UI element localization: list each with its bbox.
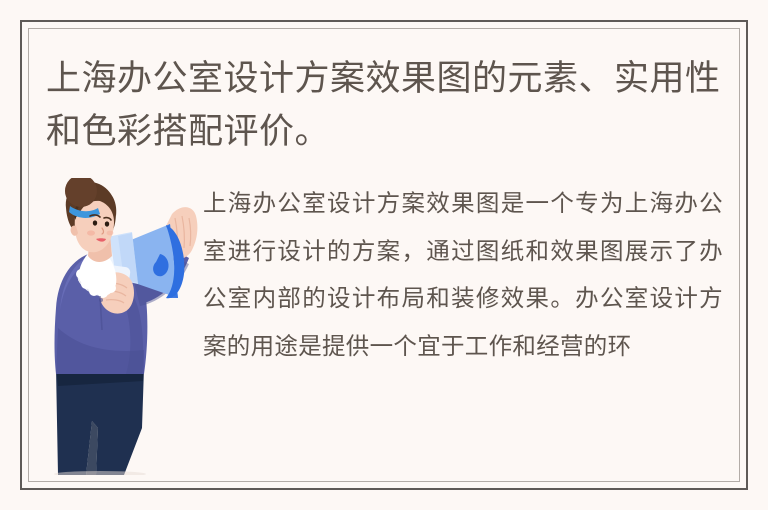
woman-with-megaphone-illustration	[48, 178, 198, 475]
head	[65, 178, 116, 252]
article-body: 上海办公室设计方案效果图是一个专为上海办公室进行设计的方案，通过图纸和效果图展示…	[203, 180, 723, 370]
woman-with-megaphone-graphic	[48, 178, 198, 475]
pants-group	[56, 368, 144, 475]
page-title: 上海办公室设计方案效果图的元素、实用性和色彩搭配评价。	[46, 52, 736, 158]
article-card: 上海办公室设计方案效果图的元素、实用性和色彩搭配评价。	[0, 0, 768, 510]
